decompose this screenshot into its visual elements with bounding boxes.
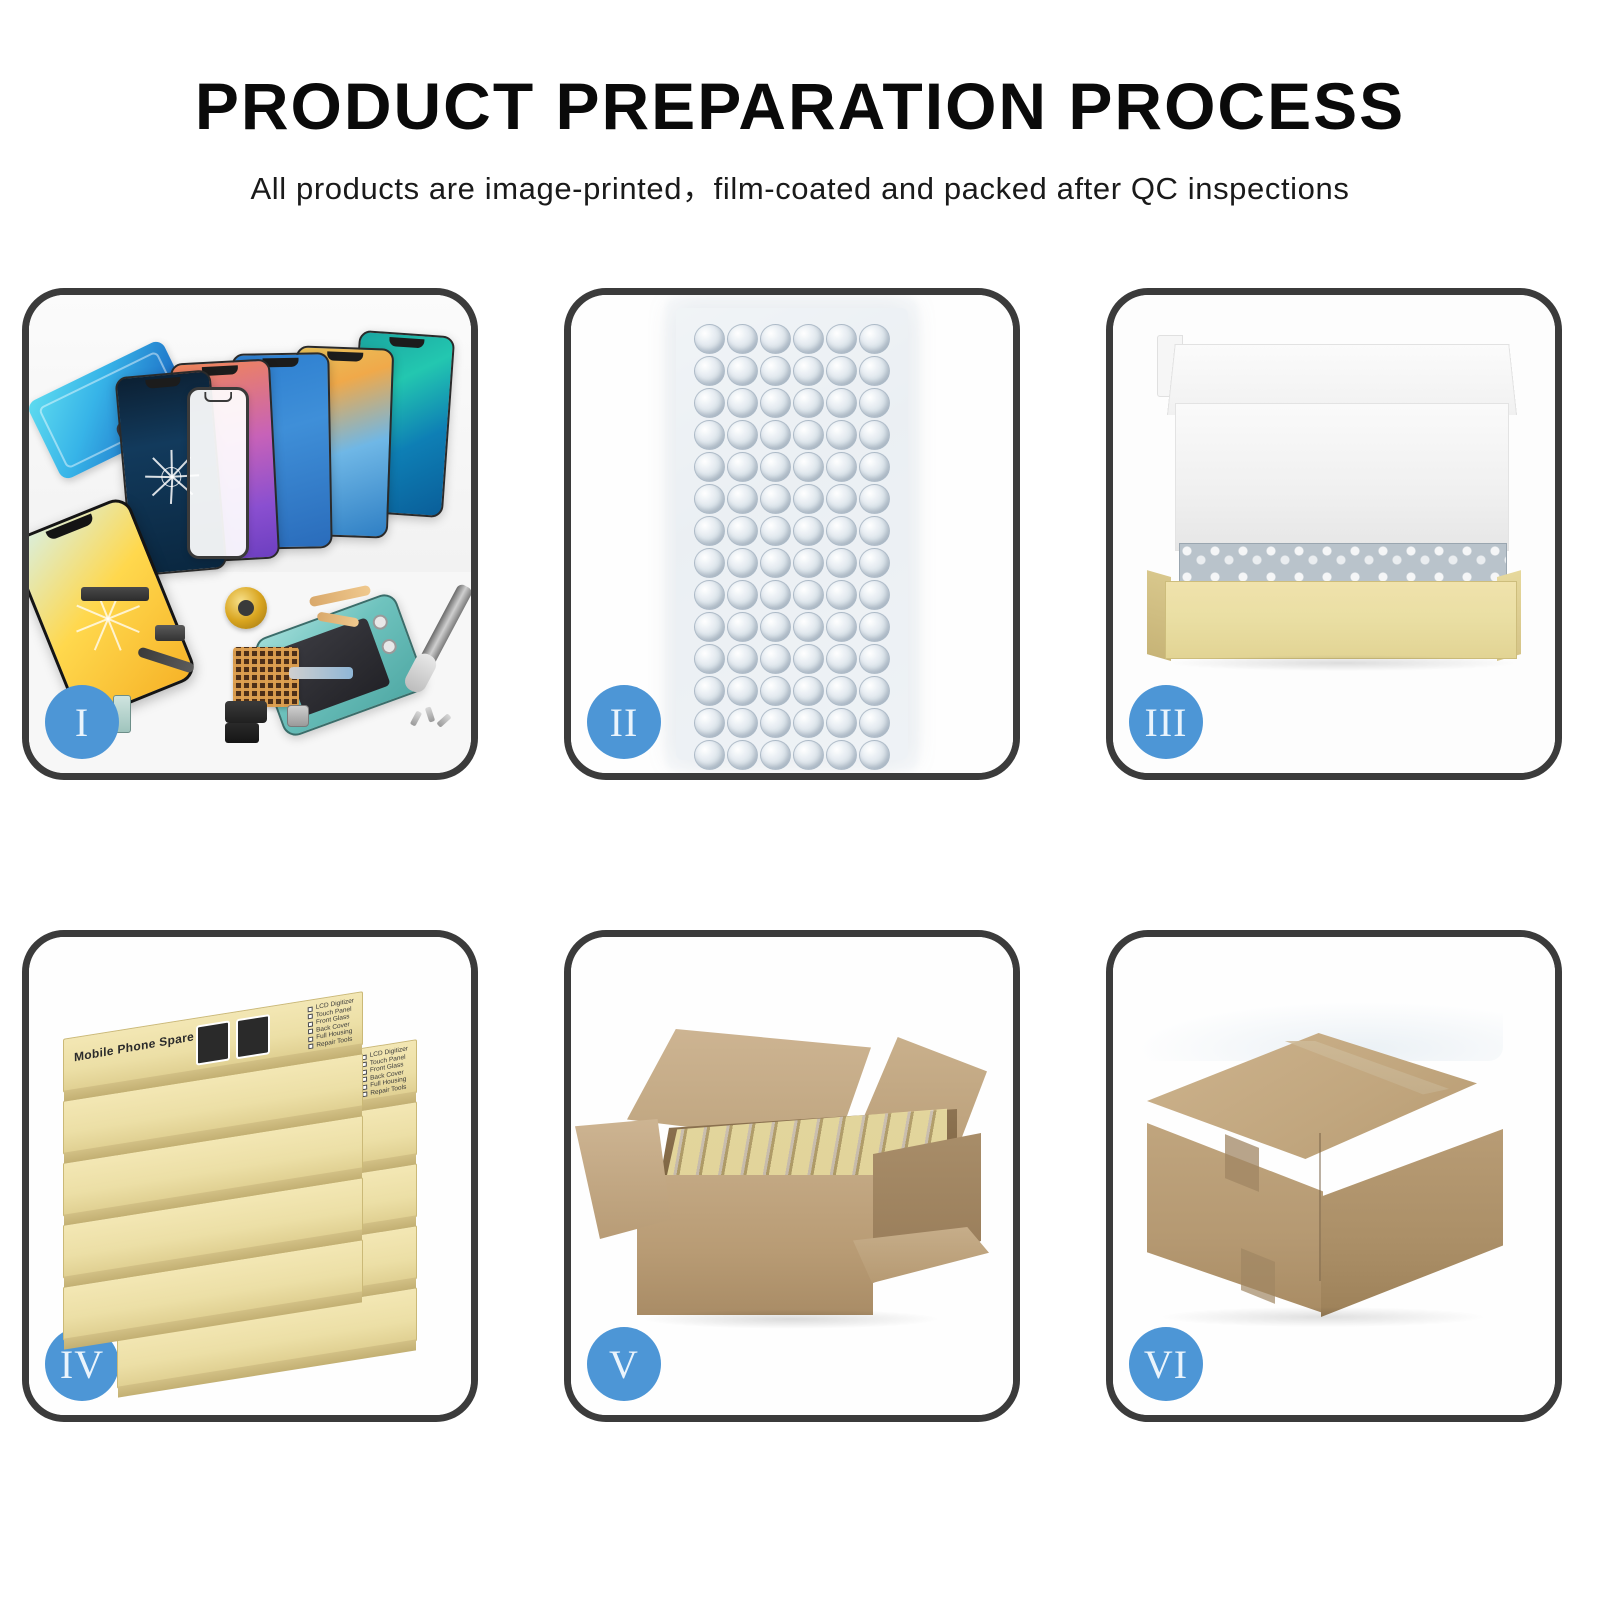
phone-thumbnail-image xyxy=(196,1020,230,1065)
retail-box-product-thumbnails xyxy=(196,1014,270,1066)
bubble-cell xyxy=(826,324,857,354)
bubble-cell xyxy=(760,548,791,578)
bubble-cell xyxy=(694,452,725,482)
bubble-cell xyxy=(859,708,890,738)
bubble-cell xyxy=(859,324,890,354)
bubble-cell xyxy=(859,452,890,482)
bubble-cell xyxy=(859,580,890,610)
page-subtitle: All products are image-printed，film-coat… xyxy=(0,163,1600,208)
checkbox-icon xyxy=(308,1021,313,1027)
camera-lens-icon xyxy=(371,613,390,632)
step-panel-5: V xyxy=(564,930,1020,1422)
bubble-cell xyxy=(727,452,758,482)
bubble-cell xyxy=(727,420,758,450)
bubble-wrapped-product-inside xyxy=(1179,543,1507,585)
bubble-cell xyxy=(694,324,725,354)
notch-icon xyxy=(327,351,363,361)
box-shadow xyxy=(1173,655,1513,671)
step-panel-6: VI xyxy=(1106,930,1562,1422)
bubble-cell xyxy=(694,676,725,706)
bubble-cell xyxy=(793,388,824,418)
bubble-cell xyxy=(760,484,791,514)
wireless-charging-coil-part xyxy=(225,587,267,629)
checkbox-icon xyxy=(307,1014,312,1020)
bubble-cell xyxy=(859,420,890,450)
bubble-cell xyxy=(727,484,758,514)
box-inner-white-panel xyxy=(1175,403,1509,551)
bubble-cell xyxy=(760,612,791,642)
page-title: PRODUCT PREPARATION PROCESS xyxy=(0,72,1600,141)
bubble-cell xyxy=(859,612,890,642)
bubble-cell xyxy=(826,420,857,450)
bubble-cell xyxy=(727,644,758,674)
bubble-cell xyxy=(694,516,725,546)
bubble-cell xyxy=(859,484,890,514)
bubble-cell xyxy=(760,324,791,354)
step-badge-3: III xyxy=(1129,685,1203,759)
bubble-cell xyxy=(760,452,791,482)
bubble-cell xyxy=(760,516,791,546)
bubble-cell xyxy=(727,676,758,706)
step-4-image: Mobile Phone Spare PartsLCD DigitizerTou… xyxy=(29,937,471,1415)
step-panel-1: I xyxy=(22,288,478,780)
bubble-cell xyxy=(793,644,824,674)
bubble-cell xyxy=(793,452,824,482)
bubble-cell xyxy=(760,580,791,610)
bubble-cell xyxy=(859,740,890,770)
step-panel-4: Mobile Phone Spare PartsLCD DigitizerTou… xyxy=(22,930,478,1422)
bubble-cell xyxy=(727,740,758,770)
bubble-cell xyxy=(760,676,791,706)
step-panel-2: II xyxy=(564,288,1020,780)
carton-vertical-seam xyxy=(1319,1133,1321,1281)
bubble-cell xyxy=(694,740,725,770)
carton-flap-left xyxy=(575,1119,671,1239)
bubble-cell xyxy=(859,388,890,418)
carton-shadow xyxy=(641,1309,941,1329)
retail-box-checklist: LCD DigitizerTouch PanelFront GlassBack … xyxy=(361,1046,408,1098)
bubble-cell xyxy=(859,644,890,674)
bubble-cell xyxy=(760,356,791,386)
bubble-cell xyxy=(694,644,725,674)
checkbox-icon xyxy=(307,1006,312,1012)
bubble-cell xyxy=(826,516,857,546)
bubble-cell xyxy=(826,356,857,386)
vibration-motor-part xyxy=(287,705,309,727)
notch-icon xyxy=(145,377,181,389)
bubble-cell xyxy=(694,708,725,738)
bubble-cell xyxy=(793,740,824,770)
carton-front-face xyxy=(637,1175,873,1315)
stacked-retail-boxes: Mobile Phone Spare PartsLCD DigitizerTou… xyxy=(29,937,471,1415)
checkbox-icon xyxy=(308,1036,313,1042)
bubble-cell xyxy=(727,356,758,386)
bubble-cell xyxy=(694,388,725,418)
box-front-face xyxy=(1165,581,1517,659)
bubble-wrap-pouch xyxy=(676,308,908,760)
bubble-cell xyxy=(793,612,824,642)
bubble-cell xyxy=(826,708,857,738)
checkbox-icon xyxy=(308,1044,313,1050)
step-badge-6: VI xyxy=(1129,1327,1203,1401)
bubble-cell xyxy=(694,580,725,610)
bubble-cell xyxy=(826,452,857,482)
page-header: PRODUCT PREPARATION PROCESS All products… xyxy=(0,0,1600,208)
speaker-module-part xyxy=(225,701,267,723)
process-step-grid: I II III xyxy=(22,288,1578,1422)
bubble-cell xyxy=(826,740,857,770)
bubble-cell xyxy=(793,548,824,578)
speaker-module-part xyxy=(225,723,259,743)
step-badge-5: V xyxy=(587,1327,661,1401)
bubble-cell xyxy=(793,356,824,386)
bubble-cell xyxy=(859,676,890,706)
earpiece-mesh-part xyxy=(81,587,149,601)
bubble-cell xyxy=(793,420,824,450)
bubble-cell xyxy=(694,420,725,450)
bubble-cell xyxy=(826,612,857,642)
carton-shadow xyxy=(1163,1307,1483,1327)
bubble-cell xyxy=(826,580,857,610)
bubble-cell xyxy=(727,612,758,642)
screen-protector-glass xyxy=(187,387,249,559)
bubble-cell xyxy=(826,548,857,578)
bubble-cell xyxy=(793,484,824,514)
bubble-cell xyxy=(826,388,857,418)
carton-right-face xyxy=(1321,1129,1503,1317)
bubble-cell xyxy=(826,676,857,706)
bubble-cell xyxy=(859,516,890,546)
bubble-cell xyxy=(727,548,758,578)
bubble-cell xyxy=(727,580,758,610)
bubble-cell xyxy=(694,356,725,386)
bubble-cell xyxy=(727,516,758,546)
phone-thumbnail-image xyxy=(236,1014,270,1059)
bubble-cell xyxy=(793,708,824,738)
bubble-cell xyxy=(727,388,758,418)
screwdriver-tool-icon xyxy=(416,583,471,672)
bubble-cell xyxy=(760,388,791,418)
bubble-cell xyxy=(793,676,824,706)
step-badge-2: II xyxy=(587,685,661,759)
bubble-cell xyxy=(694,612,725,642)
camera-lens-icon xyxy=(379,637,398,656)
screws-part xyxy=(413,707,457,729)
checkbox-icon xyxy=(308,1029,313,1035)
retail-box-checklist: LCD DigitizerTouch PanelFront GlassBack … xyxy=(307,998,354,1050)
bubble-cell xyxy=(859,356,890,386)
bubble-cell xyxy=(760,740,791,770)
bubble-cell xyxy=(826,644,857,674)
bubble-cell xyxy=(760,708,791,738)
bubble-cell xyxy=(793,324,824,354)
step-badge-1: I xyxy=(45,685,119,759)
step-panel-3: III xyxy=(1106,288,1562,780)
bubble-cell xyxy=(826,484,857,514)
bubble-cell xyxy=(694,548,725,578)
bubble-cell xyxy=(727,324,758,354)
bubble-grid xyxy=(694,324,890,744)
bubble-cell xyxy=(793,580,824,610)
bubble-cell xyxy=(760,420,791,450)
flex-cable-part xyxy=(289,667,353,679)
bubble-cell xyxy=(760,644,791,674)
bubble-cell xyxy=(793,516,824,546)
notch-icon xyxy=(389,337,424,348)
bubble-cell xyxy=(859,548,890,578)
bubble-cell xyxy=(727,708,758,738)
small-chip-part xyxy=(155,625,185,641)
bubble-cell xyxy=(694,484,725,514)
